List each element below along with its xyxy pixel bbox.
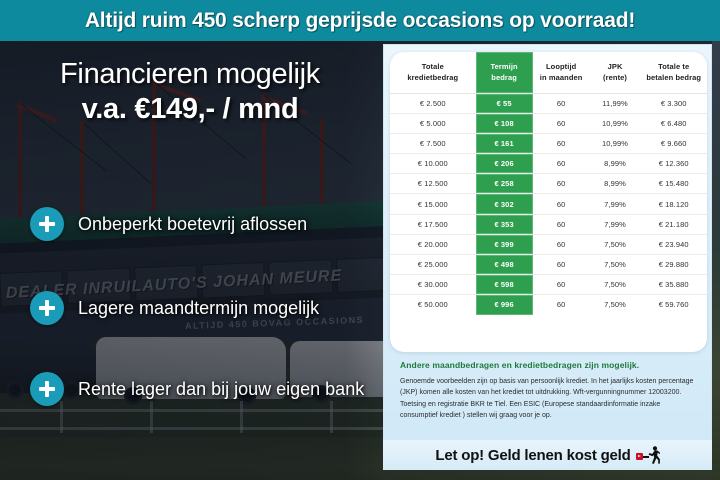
cell-termijn: € 302 bbox=[476, 194, 533, 214]
col-header-jkp-l2: (rente) bbox=[591, 72, 640, 83]
rate-table-head: Totale kredietbedrag Termijn bedrag Loop… bbox=[390, 52, 707, 93]
cell-looptijd: 60 bbox=[533, 154, 590, 174]
rate-table-panel: Totale kredietbedrag Termijn bedrag Loop… bbox=[383, 44, 712, 470]
feature-bullet-2: Lagere maandtermijn mogelijk bbox=[30, 291, 319, 325]
top-banner: Altijd ruim 450 scherp geprijsde occasio… bbox=[0, 0, 720, 41]
cell-jkp: 7,50% bbox=[590, 255, 641, 275]
cell-termijn: € 996 bbox=[476, 295, 533, 315]
cell-looptijd: 60 bbox=[533, 113, 590, 133]
cell-jkp: 10,99% bbox=[590, 133, 641, 153]
cell-totaal: € 59.760 bbox=[640, 295, 707, 315]
cell-jkp: 7,50% bbox=[590, 295, 641, 315]
cell-totaal: € 23.940 bbox=[640, 234, 707, 254]
cell-termijn: € 258 bbox=[476, 174, 533, 194]
cell-totaal: € 3.300 bbox=[640, 93, 707, 113]
cell-jkp: 10,99% bbox=[590, 113, 641, 133]
cell-totaal: € 6.480 bbox=[640, 113, 707, 133]
cell-termijn: € 55 bbox=[476, 93, 533, 113]
cell-looptijd: 60 bbox=[533, 133, 590, 153]
table-row: € 2.500€ 556011,99%€ 3.300 bbox=[390, 93, 707, 113]
cell-jkp: 8,99% bbox=[590, 154, 641, 174]
cell-looptijd: 60 bbox=[533, 174, 590, 194]
table-row: € 15.000€ 302607,99%€ 18.120 bbox=[390, 194, 707, 214]
cell-looptijd: 60 bbox=[533, 275, 590, 295]
cell-looptijd: 60 bbox=[533, 194, 590, 214]
cell-looptijd: 60 bbox=[533, 93, 590, 113]
cell-krediet: € 20.000 bbox=[390, 234, 476, 254]
cell-totaal: € 9.660 bbox=[640, 133, 707, 153]
cell-totaal: € 18.120 bbox=[640, 194, 707, 214]
cell-krediet: € 15.000 bbox=[390, 194, 476, 214]
cell-looptijd: 60 bbox=[533, 234, 590, 254]
headline-line-1: Financieren mogelijk bbox=[0, 59, 380, 91]
col-header-looptijd-l1: Looptijd bbox=[534, 61, 589, 72]
col-header-totaal: Totale te betalen bedrag bbox=[640, 52, 707, 93]
col-header-termijn-l1: Termijn bbox=[477, 61, 532, 72]
col-header-termijn: Termijn bedrag bbox=[476, 52, 533, 93]
plus-icon bbox=[30, 207, 64, 241]
col-header-krediet: Totale kredietbedrag bbox=[390, 52, 476, 93]
cell-krediet: € 30.000 bbox=[390, 275, 476, 295]
table-row: € 17.500€ 353607,99%€ 21.180 bbox=[390, 214, 707, 234]
table-row: € 12.500€ 258608,99%€ 15.480 bbox=[390, 174, 707, 194]
cell-krediet: € 5.000 bbox=[390, 113, 476, 133]
feature-bullet-1: Onbeperkt boetevrij aflossen bbox=[30, 207, 307, 241]
cell-totaal: € 29.880 bbox=[640, 255, 707, 275]
running-man-glyph bbox=[647, 446, 660, 464]
cell-jkp: 7,99% bbox=[590, 214, 641, 234]
col-header-jkp-l1: JPK bbox=[591, 61, 640, 72]
col-header-krediet-l1: Totale bbox=[391, 61, 475, 72]
rate-table-header-row: Totale kredietbedrag Termijn bedrag Loop… bbox=[390, 52, 707, 93]
cell-jkp: 11,99% bbox=[590, 93, 641, 113]
cell-totaal: € 21.180 bbox=[640, 214, 707, 234]
rate-table-card: Totale kredietbedrag Termijn bedrag Loop… bbox=[390, 52, 707, 352]
cell-looptijd: 60 bbox=[533, 295, 590, 315]
cell-termijn: € 353 bbox=[476, 214, 533, 234]
banner-headline: Altijd ruim 450 scherp geprijsde occasio… bbox=[85, 9, 635, 33]
cell-krediet: € 12.500 bbox=[390, 174, 476, 194]
headline-line-2: v.a. €149,- / mnd bbox=[0, 91, 380, 127]
cell-termijn: € 498 bbox=[476, 255, 533, 275]
cell-krediet: € 7.500 bbox=[390, 133, 476, 153]
col-header-totaal-l2: betalen bedrag bbox=[641, 72, 706, 83]
rate-table: Totale kredietbedrag Termijn bedrag Loop… bbox=[390, 52, 707, 315]
note-title: Andere maandbedragen en kredietbedragen … bbox=[400, 360, 700, 370]
col-header-totaal-l1: Totale te bbox=[641, 61, 706, 72]
col-header-looptijd-l2: in maanden bbox=[534, 72, 589, 83]
feature-bullet-2-label: Lagere maandtermijn mogelijk bbox=[78, 298, 319, 319]
cell-termijn: € 399 bbox=[476, 234, 533, 254]
cell-jkp: 8,99% bbox=[590, 174, 641, 194]
cell-totaal: € 12.360 bbox=[640, 154, 707, 174]
plus-icon bbox=[30, 291, 64, 325]
cell-termijn: € 598 bbox=[476, 275, 533, 295]
col-header-looptijd: Looptijd in maanden bbox=[533, 52, 590, 93]
left-content-column: Financieren mogelijk v.a. €149,- / mnd O… bbox=[0, 41, 390, 480]
cell-jkp: 7,50% bbox=[590, 234, 641, 254]
cell-krediet: € 17.500 bbox=[390, 214, 476, 234]
ad-banner-root: Altijd ruim 450 scherp geprijsde occasio… bbox=[0, 0, 720, 480]
feature-bullet-3: Rente lager dan bij jouw eigen bank bbox=[30, 372, 364, 406]
cell-looptijd: 60 bbox=[533, 255, 590, 275]
cell-krediet: € 50.000 bbox=[390, 295, 476, 315]
feature-bullet-1-label: Onbeperkt boetevrij aflossen bbox=[78, 214, 307, 235]
cell-termijn: € 108 bbox=[476, 113, 533, 133]
plus-icon bbox=[30, 372, 64, 406]
table-row: € 5.000€ 1086010,99%€ 6.480 bbox=[390, 113, 707, 133]
col-header-krediet-l2: kredietbedrag bbox=[391, 72, 475, 83]
cell-looptijd: 60 bbox=[533, 214, 590, 234]
cell-termijn: € 161 bbox=[476, 133, 533, 153]
table-row: € 25.000€ 498607,50%€ 29.880 bbox=[390, 255, 707, 275]
warning-text: Let op! Geld lenen kost geld bbox=[435, 447, 630, 464]
note-body: Genoemde voorbeelden zijn op basis van p… bbox=[400, 376, 696, 421]
cell-krediet: € 25.000 bbox=[390, 255, 476, 275]
table-row: € 30.000€ 598607,50%€ 35.880 bbox=[390, 275, 707, 295]
table-row: € 7.500€ 1616010,99%€ 9.660 bbox=[390, 133, 707, 153]
cell-krediet: € 10.000 bbox=[390, 154, 476, 174]
cell-totaal: € 35.880 bbox=[640, 275, 707, 295]
money-bag-icon bbox=[636, 453, 643, 460]
table-row: € 20.000€ 399607,50%€ 23.940 bbox=[390, 234, 707, 254]
cell-termijn: € 206 bbox=[476, 154, 533, 174]
feature-bullet-3-label: Rente lager dan bij jouw eigen bank bbox=[78, 379, 364, 400]
warning-bar: Let op! Geld lenen kost geld bbox=[383, 440, 712, 470]
col-header-jkp: JPK (rente) bbox=[590, 52, 641, 93]
table-row: € 10.000€ 206608,99%€ 12.360 bbox=[390, 154, 707, 174]
cell-jkp: 7,50% bbox=[590, 275, 641, 295]
cell-krediet: € 2.500 bbox=[390, 93, 476, 113]
cell-totaal: € 15.480 bbox=[640, 174, 707, 194]
col-header-termijn-l2: bedrag bbox=[477, 72, 532, 83]
table-row: € 50.000€ 996607,50%€ 59.760 bbox=[390, 295, 707, 315]
cell-jkp: 7,99% bbox=[590, 194, 641, 214]
rate-table-body: € 2.500€ 556011,99%€ 3.300€ 5.000€ 10860… bbox=[390, 93, 707, 315]
running-man-money-bag-icon bbox=[636, 446, 660, 464]
photo-right-edge bbox=[712, 41, 720, 480]
headline-block: Financieren mogelijk v.a. €149,- / mnd bbox=[0, 59, 380, 127]
